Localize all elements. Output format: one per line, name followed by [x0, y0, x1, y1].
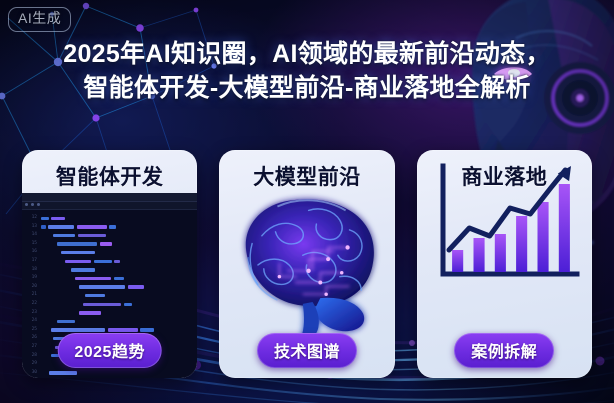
card-agent-development[interactable]: 智能体开发 12 13 14 15 16 17 18 19 20	[22, 150, 197, 378]
headline-line-2: 智能体开发-大模型前沿-商业落地全解析	[22, 71, 592, 105]
chart-bar	[558, 184, 569, 272]
card-title: 大模型前沿	[253, 161, 361, 191]
feature-card-row: 智能体开发 12 13 14 15 16 17 18 19 20	[22, 150, 592, 378]
card-pill-badge[interactable]: 案例拆解	[454, 333, 554, 368]
chart-bar	[516, 216, 527, 272]
card-pill-badge[interactable]: 2025趋势	[57, 333, 162, 368]
headline-line-1: 2025年AI知识圈，AI领域的最新前沿动态，	[22, 37, 592, 71]
chart-bar	[452, 250, 463, 272]
poster-canvas: AI生成 2025年AI知识圈，AI领域的最新前沿动态， 智能体开发-大模型前沿…	[0, 0, 614, 403]
card-title: 商业落地	[461, 161, 547, 191]
ai-generated-badge: AI生成	[8, 7, 71, 32]
card-business-implementation[interactable]: 商业落地 案例拆解	[417, 150, 592, 378]
chart-bar	[473, 238, 484, 272]
page-title: 2025年AI知识圈，AI领域的最新前沿动态， 智能体开发-大模型前沿-商业落地…	[0, 37, 614, 105]
brain-icon	[219, 179, 394, 349]
chart-bar	[537, 202, 548, 272]
chart-bar	[494, 234, 505, 272]
card-pill-badge[interactable]: 技术图谱	[257, 333, 357, 368]
card-title: 智能体开发	[56, 161, 164, 191]
card-large-model-frontier[interactable]: 大模型前沿	[219, 150, 394, 378]
